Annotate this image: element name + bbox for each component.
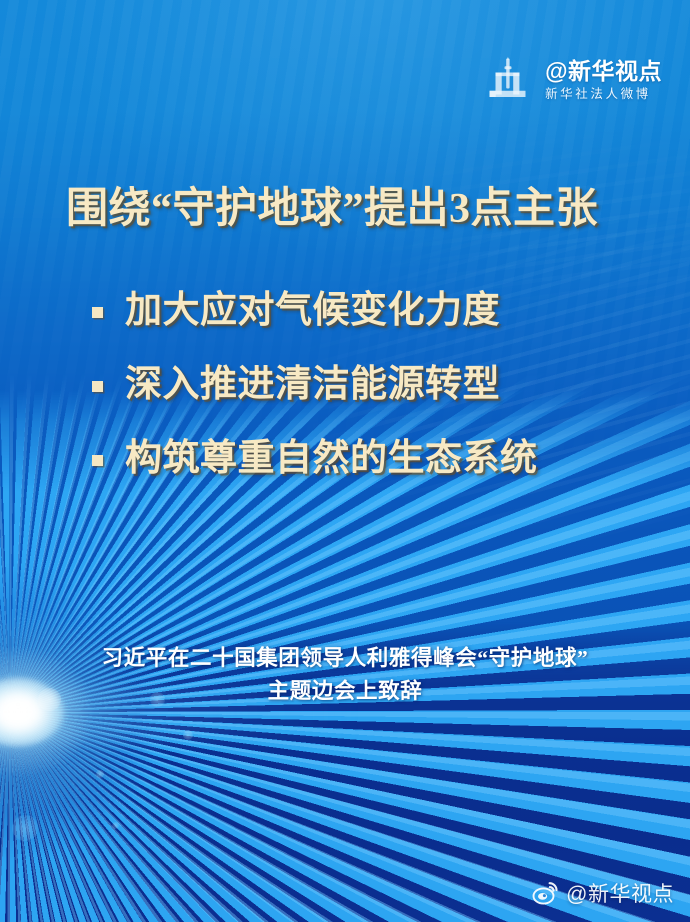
list-item: 加大应对气候变化力度 — [92, 292, 538, 329]
list-item-label: 加大应对气候变化力度 — [125, 292, 500, 329]
caption-line-2: 主题边会上致辞 — [0, 675, 690, 708]
weibo-icon — [532, 880, 558, 906]
brand-handle: @新华视点 — [545, 60, 662, 83]
list-item-label: 深入推进清洁能源转型 — [125, 366, 500, 403]
bullet-square-icon — [92, 381, 103, 392]
caption-line-1: 习近平在二十国集团领导人利雅得峰会“守护地球” — [0, 642, 690, 675]
list-item: 构筑尊重自然的生态系统 — [92, 440, 538, 477]
bullet-square-icon — [92, 307, 103, 318]
key-points-list: 加大应对气候变化力度 深入推进清洁能源转型 构筑尊重自然的生态系统 — [92, 292, 538, 477]
brand-text-block: @新华视点 新华社法人微博 — [545, 60, 662, 101]
brand-header: @新华视点 新华社法人微博 — [482, 54, 662, 106]
caption-block: 习近平在二十国集团领导人利雅得峰会“守护地球” 主题边会上致辞 — [0, 642, 690, 708]
xinhua-logo-icon — [482, 54, 534, 106]
weibo-watermark-label: @新华视点 — [566, 878, 674, 908]
list-item: 深入推进清洁能源转型 — [92, 366, 538, 403]
poster-content: @新华视点 新华社法人微博 围绕“守护地球”提出3点主张 加大应对气候变化力度 … — [0, 0, 690, 922]
bullet-square-icon — [92, 455, 103, 466]
list-item-label: 构筑尊重自然的生态系统 — [125, 440, 538, 477]
page-title: 围绕“守护地球”提出3点主张 — [66, 188, 598, 230]
brand-subtitle: 新华社法人微博 — [545, 88, 662, 101]
weibo-watermark: @新华视点 — [532, 878, 674, 908]
poster-canvas: @新华视点 新华社法人微博 围绕“守护地球”提出3点主张 加大应对气候变化力度 … — [0, 0, 690, 922]
